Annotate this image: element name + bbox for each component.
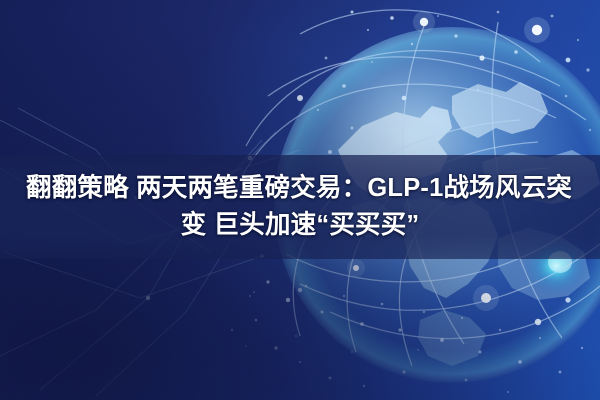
headline-line-1: 翻翻策略 两天两笔重磅交易：GLP-1战场风云突 — [26, 171, 574, 206]
headline-line-2: 变 巨头加速“买买买” — [181, 208, 420, 243]
headline-block: 翻翻策略 两天两笔重磅交易：GLP-1战场风云突 变 巨头加速“买买买” — [0, 155, 600, 259]
news-banner-image: 翻翻策略 两天两笔重磅交易：GLP-1战场风云突 变 巨头加速“买买买” — [0, 0, 600, 400]
